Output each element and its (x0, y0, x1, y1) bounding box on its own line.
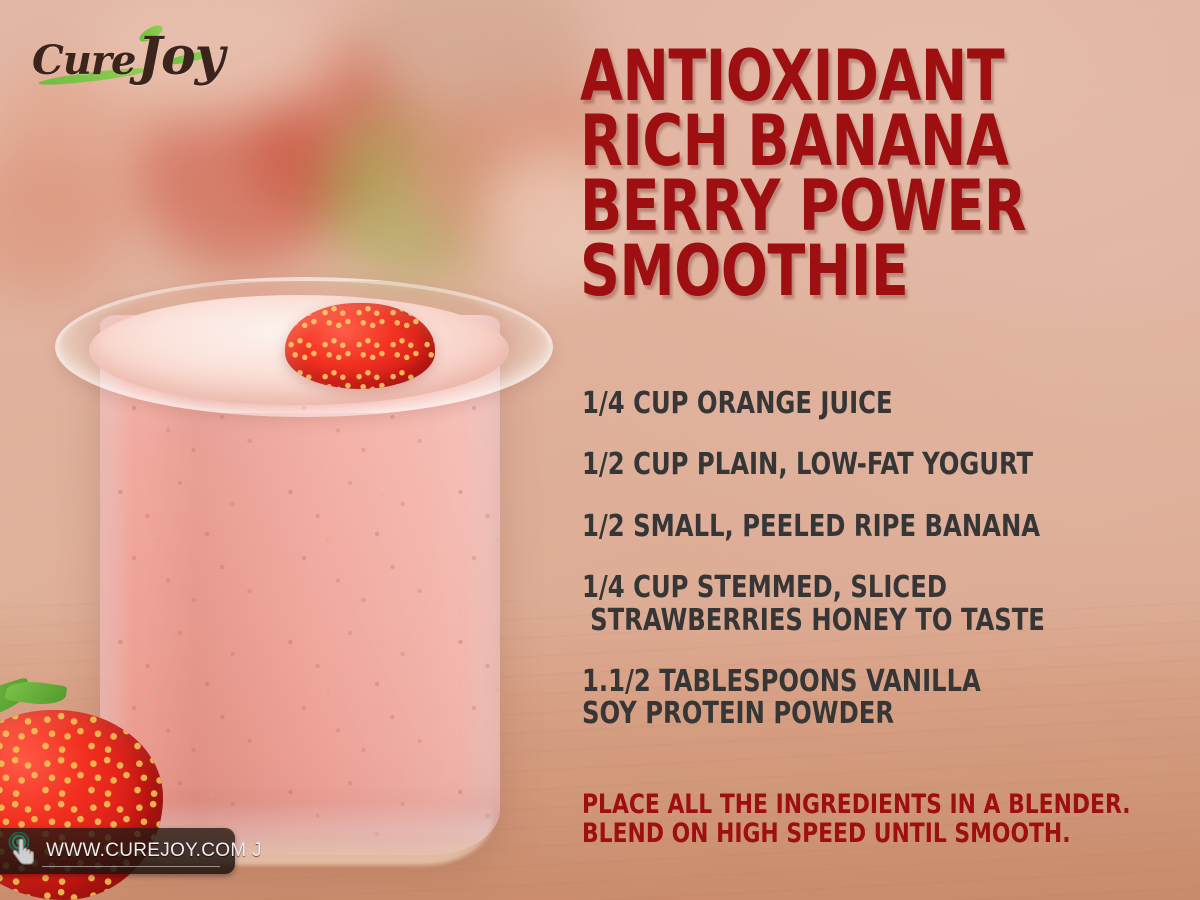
logo-word-joy: Joy (137, 26, 224, 87)
watermark-url: WWW.CUREJOY.COM J (46, 840, 262, 862)
ingredient-item: 1.1/2 TABLESPOONS VANILLA SOY PROTEIN PO… (582, 666, 1122, 731)
recipe-title: ANTIOXIDANT RICH BANANA BERRY POWER SMOO… (580, 44, 1108, 304)
logo-wordmark: CureJoy (32, 26, 224, 87)
ingredient-text: 1/4 CUP STEMMED, SLICED (582, 570, 947, 605)
ingredient-item: 1/4 CUP ORANGE JUICE (582, 388, 1122, 420)
curejoy-logo[interactable]: CureJoy (26, 20, 206, 92)
ingredient-item: 1/2 CUP PLAIN, LOW-FAT YOGURT (582, 449, 1122, 481)
instruction-line-2: BLEND ON HIGH SPEED UNTIL SMOOTH. (582, 819, 1122, 848)
ingredient-item: 1/4 CUP STEMMED, SLICED STRAWBERRIES HON… (582, 572, 1122, 637)
watermark-underline (42, 866, 220, 867)
ingredient-text: 1.1/2 TABLESPOONS VANILLA (582, 664, 981, 699)
logo-word-cure: Cure (32, 37, 135, 84)
instruction-line-1: PLACE ALL THE INGREDIENTS IN A BLENDER. (582, 790, 1122, 819)
ingredient-text-line2: SOY PROTEIN POWDER (582, 698, 1122, 730)
ingredient-text: 1/2 CUP PLAIN, LOW-FAT YOGURT (582, 447, 1033, 482)
ingredient-text: 1/2 SMALL, PEELED RIPE BANANA (582, 509, 1040, 544)
strawberry-garnish-icon (285, 303, 435, 389)
ingredient-text: 1/4 CUP ORANGE JUICE (582, 386, 893, 421)
title-line-4: SMOOTHIE (580, 239, 1108, 304)
recipe-poster: CureJoy ANTIOXIDANT RICH BANANA BERRY PO… (0, 0, 1200, 900)
ingredient-text-line2: STRAWBERRIES HONEY TO TASTE (582, 605, 1122, 637)
ingredient-item: 1/2 SMALL, PEELED RIPE BANANA (582, 511, 1122, 543)
instructions-text: PLACE ALL THE INGREDIENTS IN A BLENDER. … (582, 790, 1122, 848)
website-watermark[interactable]: WWW.CUREJOY.COM J (0, 828, 235, 874)
ingredients-list: 1/4 CUP ORANGE JUICE 1/2 CUP PLAIN, LOW-… (582, 388, 1182, 760)
hand-tap-cursor-icon (6, 832, 40, 870)
